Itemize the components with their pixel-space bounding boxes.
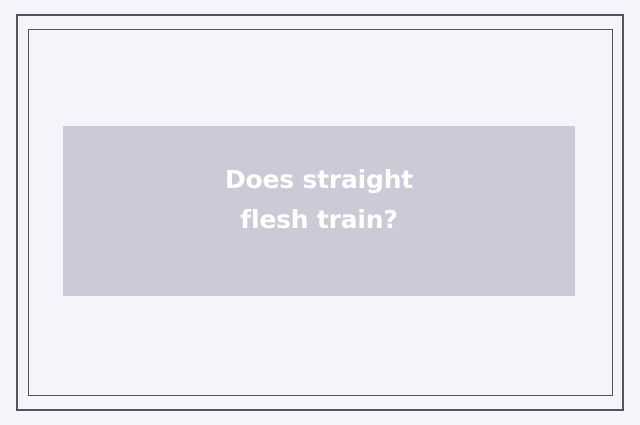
headline-banner: Does straight flesh train? - - — [63, 126, 575, 296]
banner-subtext-ghost: - - — [63, 260, 575, 272]
poster-outer-frame: Does straight flesh train? - - — [16, 14, 624, 411]
poster-inner-frame: Does straight flesh train? - - — [28, 29, 613, 396]
banner-headline-text: Does straight flesh train? — [63, 160, 575, 240]
